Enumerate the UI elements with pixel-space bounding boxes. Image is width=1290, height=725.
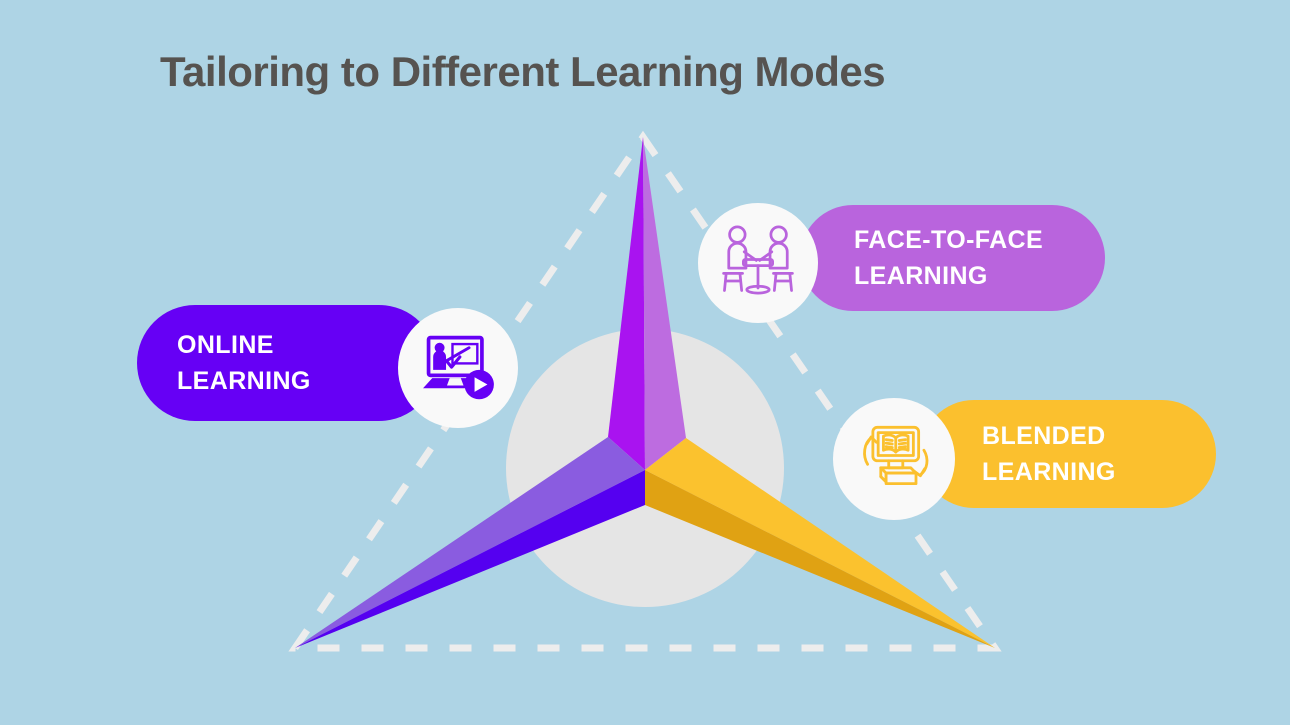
slide-canvas: Tailoring to Different Learning Modes ON… bbox=[0, 0, 1290, 725]
mode-card-face-to-face[interactable]: FACE-TO-FACE LEARNING bbox=[800, 205, 1105, 311]
mode-badge-face-to-face[interactable] bbox=[698, 203, 818, 323]
mode-label-blended: BLENDED LEARNING bbox=[982, 418, 1116, 491]
monitor-book-stack-cycle-icon bbox=[850, 415, 938, 503]
two-people-at-table-icon bbox=[715, 220, 801, 306]
mode-badge-blended[interactable] bbox=[833, 398, 955, 520]
mode-card-blended[interactable]: BLENDED LEARNING bbox=[920, 400, 1216, 508]
mode-label-online: ONLINE LEARNING bbox=[177, 327, 311, 400]
mode-label-face-to-face: FACE-TO-FACE LEARNING bbox=[854, 222, 1043, 295]
mode-badge-online[interactable] bbox=[398, 308, 518, 428]
mode-card-online[interactable]: ONLINE LEARNING bbox=[137, 305, 437, 421]
laptop-presentation-play-icon bbox=[412, 322, 504, 414]
blade-face-to-face-dark bbox=[608, 137, 645, 470]
